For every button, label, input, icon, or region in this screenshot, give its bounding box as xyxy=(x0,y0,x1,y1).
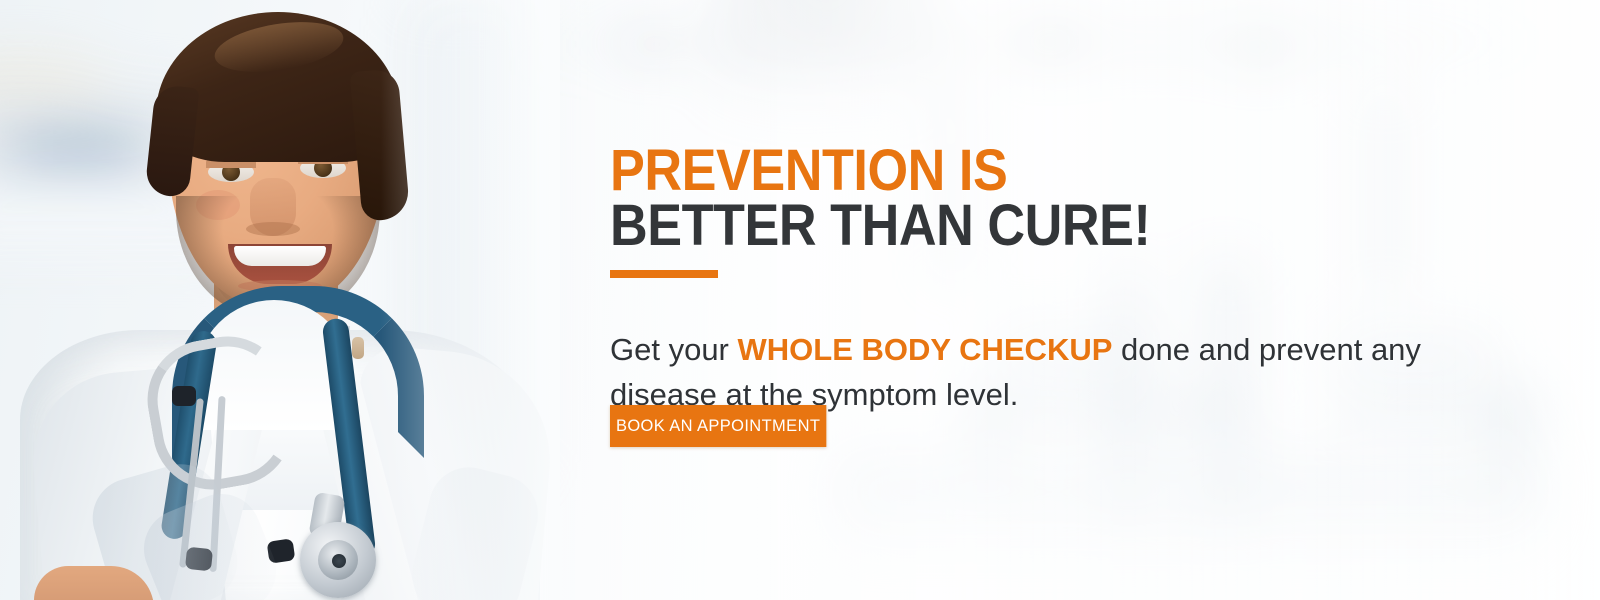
subheading-prefix: Get your xyxy=(610,332,738,367)
subheading: Get your WHOLE BODY CHECKUP done and pre… xyxy=(610,327,1510,417)
page-title: PREVENTION IS BETTER THAN CURE! xyxy=(610,143,1150,253)
healthcare-promo-banner: PREVENTION IS BETTER THAN CURE! Get your… xyxy=(0,0,1600,600)
teeth xyxy=(234,246,326,266)
book-appointment-button[interactable]: BOOK AN APPOINTMENT xyxy=(610,405,826,447)
stethoscope-center xyxy=(332,554,346,568)
banner-copy-block: PREVENTION IS BETTER THAN CURE! Get your… xyxy=(610,0,1530,600)
subheading-highlight: WHOLE BODY CHECKUP xyxy=(738,332,1113,367)
headline-line-one: PREVENTION IS xyxy=(610,143,1150,198)
doctor-photo xyxy=(0,0,560,600)
orange-divider-bar xyxy=(610,270,718,278)
nose-shadow xyxy=(246,222,300,236)
stethoscope-eartip-top xyxy=(172,386,196,406)
headline-line-two: BETTER THAN CURE! xyxy=(610,198,1150,253)
